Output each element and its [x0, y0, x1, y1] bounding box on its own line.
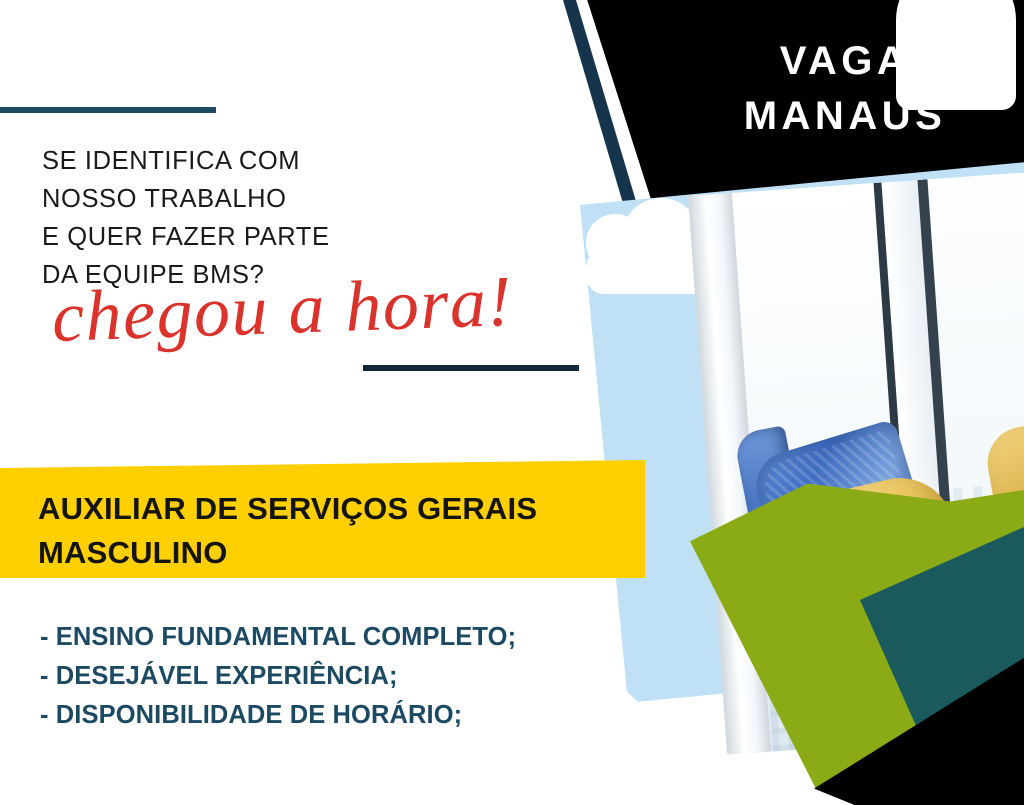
- job-title-text: AUXILIAR DE SERVIÇOS GERAIS MASCULINO: [38, 487, 638, 575]
- job-title-line-1: AUXILIAR DE SERVIÇOS GERAIS: [38, 487, 638, 531]
- accent-rule-top: [0, 107, 216, 113]
- job-title-line-2: MASCULINO: [38, 531, 638, 575]
- headline-line-3: E QUER FAZER PARTE: [42, 218, 562, 256]
- vaga-badge: VAGA MANAUS: [680, 34, 1010, 144]
- requirement-item: - ENSINO FUNDAMENTAL COMPLETO;: [40, 618, 680, 657]
- accent-rule-bottom: [363, 365, 579, 371]
- headline-line-2: NOSSO TRABALHO: [42, 180, 562, 218]
- vaga-badge-line1: VAGA: [680, 34, 1010, 89]
- poster-canvas: VAGA MANAUS SE IDENTIFICA COM NOSSO TRAB…: [0, 0, 1024, 805]
- script-tagline: chegou a hora!: [51, 258, 613, 355]
- vaga-badge-line2: MANAUS: [680, 89, 1010, 144]
- requirements-list: - ENSINO FUNDAMENTAL COMPLETO; - DESEJÁV…: [40, 618, 680, 735]
- requirement-item: - DESEJÁVEL EXPERIÊNCIA;: [40, 657, 680, 696]
- requirement-item: - DISPONIBILIDADE DE HORÁRIO;: [40, 696, 680, 735]
- headline-line-1: SE IDENTIFICA COM: [42, 142, 562, 180]
